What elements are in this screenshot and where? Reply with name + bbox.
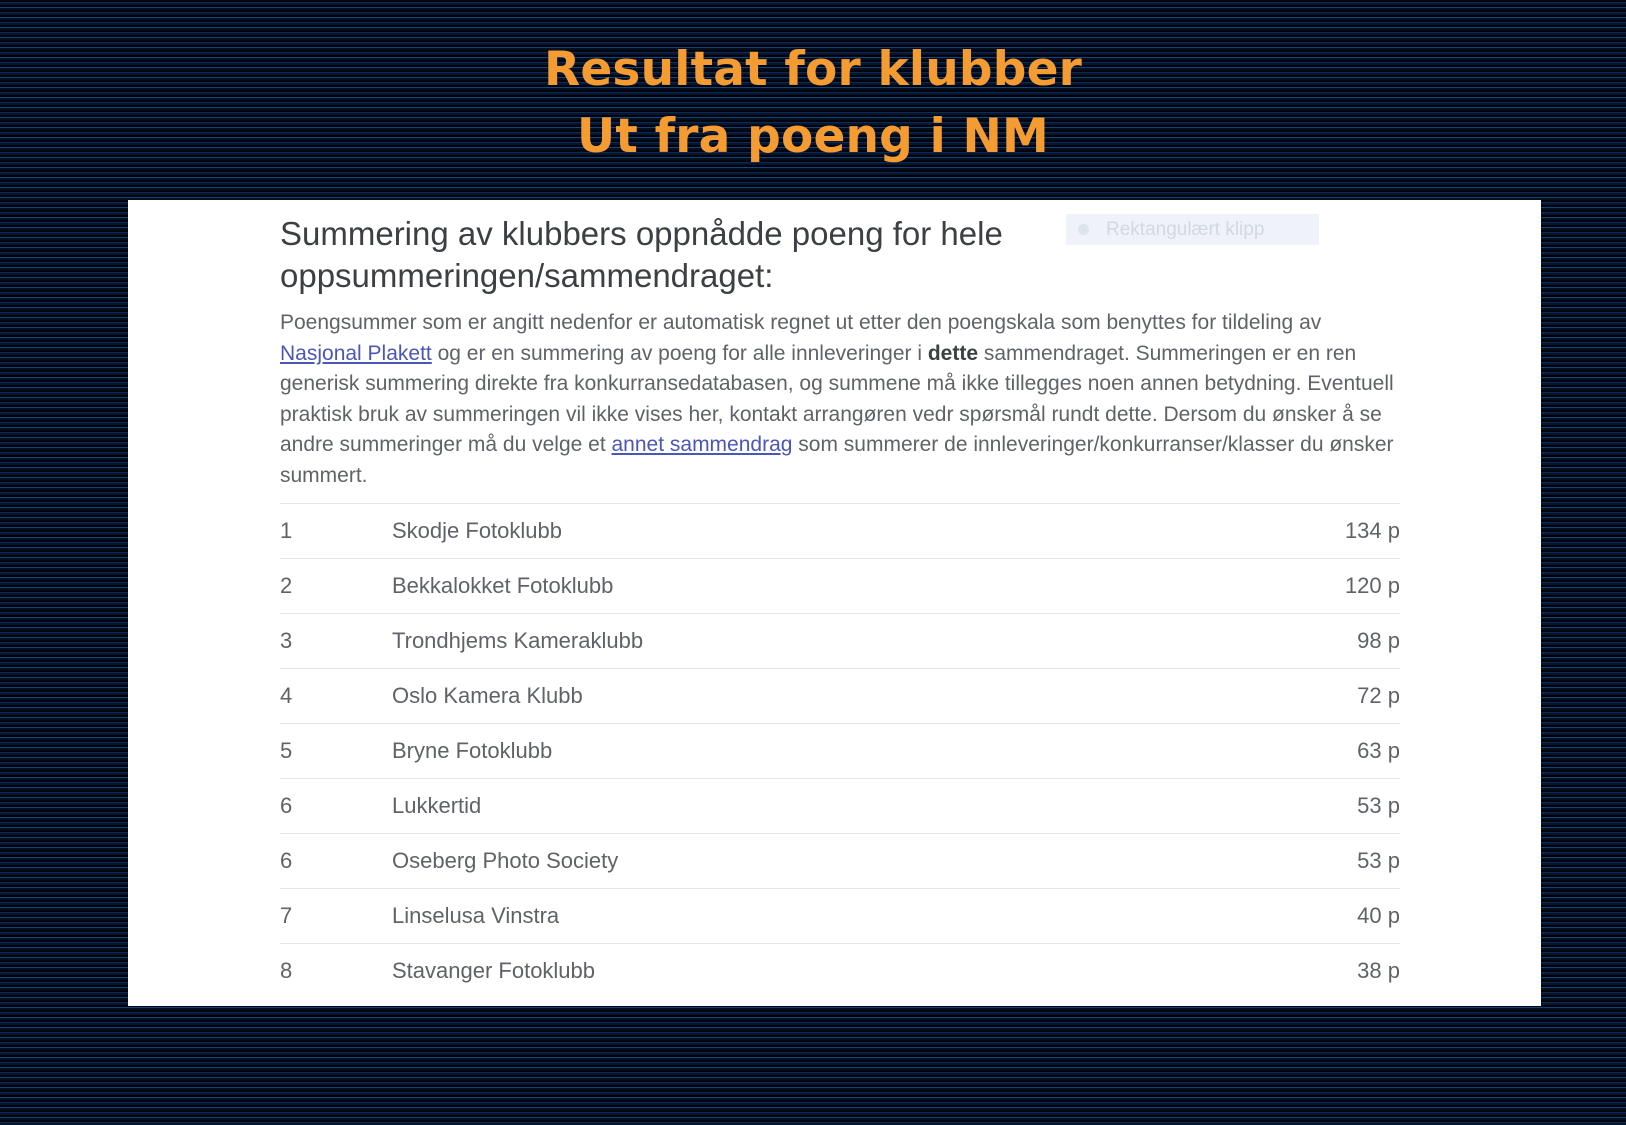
row-club: Bryne Fotoklubb	[392, 724, 1212, 779]
table-row[interactable]: 4Oslo Kamera Klubb72 p	[280, 669, 1400, 724]
row-points: 134 p	[1212, 504, 1400, 559]
paragraph-text-2: og er en summering av poeng for alle inn…	[432, 342, 928, 365]
table-row[interactable]: 1Skodje Fotoklubb134 p	[280, 504, 1400, 559]
row-rank: 7	[280, 889, 392, 944]
row-rank: 5	[280, 724, 392, 779]
row-club: Trondhjems Kameraklubb	[392, 614, 1212, 669]
row-rank: 3	[280, 614, 392, 669]
row-club: Oslo Kamera Klubb	[392, 669, 1212, 724]
row-points: 38 p	[1212, 944, 1400, 999]
title-line-2: Ut fra poeng i NM	[0, 103, 1626, 170]
row-rank: 4	[280, 669, 392, 724]
row-rank: 6	[280, 834, 392, 889]
paragraph-text-1: Poengsummer som er angitt nedenfor er au…	[280, 311, 1321, 334]
link-annet-sammendrag[interactable]: annet sammendrag	[612, 433, 793, 456]
table-row[interactable]: 2Bekkalokket Fotoklubb120 p	[280, 559, 1400, 614]
row-rank: 6	[280, 779, 392, 834]
slide-background: Resultat for klubber Ut fra poeng i NM R…	[0, 0, 1626, 1125]
row-points: 53 p	[1212, 779, 1400, 834]
table-row[interactable]: 8Stavanger Fotoklubb38 p	[280, 944, 1400, 999]
row-rank: 8	[280, 944, 392, 999]
results-table-body: 1Skodje Fotoklubb134 p2Bekkalokket Fotok…	[280, 504, 1400, 999]
row-club: Stavanger Fotoklubb	[392, 944, 1212, 999]
row-club: Skodje Fotoklubb	[392, 504, 1212, 559]
row-points: 72 p	[1212, 669, 1400, 724]
link-nasjonal-plakett[interactable]: Nasjonal Plakett	[280, 342, 432, 365]
row-club: Bekkalokket Fotoklubb	[392, 559, 1212, 614]
document-heading: Summering av klubbers oppnådde poeng for…	[280, 213, 1280, 297]
row-club: Linselusa Vinstra	[392, 889, 1212, 944]
row-points: 120 p	[1212, 559, 1400, 614]
row-points: 53 p	[1212, 834, 1400, 889]
row-rank: 1	[280, 504, 392, 559]
results-table: 1Skodje Fotoklubb134 p2Bekkalokket Fotok…	[280, 503, 1400, 999]
row-rank: 2	[280, 559, 392, 614]
table-row[interactable]: 3Trondhjems Kameraklubb98 p	[280, 614, 1400, 669]
row-points: 98 p	[1212, 614, 1400, 669]
table-row[interactable]: 7Linselusa Vinstra40 p	[280, 889, 1400, 944]
row-points: 63 p	[1212, 724, 1400, 779]
document-screenshot-panel: Rektangulært klipp Summering av klubbers…	[128, 200, 1541, 1006]
row-points: 40 p	[1212, 889, 1400, 944]
paragraph-emphasis-dette: dette	[928, 342, 978, 365]
row-club: Lukkertid	[392, 779, 1212, 834]
title-line-1: Resultat for klubber	[0, 36, 1626, 103]
table-row[interactable]: 6Oseberg Photo Society53 p	[280, 834, 1400, 889]
table-row[interactable]: 6Lukkertid53 p	[280, 779, 1400, 834]
slide-title: Resultat for klubber Ut fra poeng i NM	[0, 36, 1626, 170]
document-paragraph: Poengsummer som er angitt nedenfor er au…	[280, 308, 1400, 491]
table-row[interactable]: 5Bryne Fotoklubb63 p	[280, 724, 1400, 779]
row-club: Oseberg Photo Society	[392, 834, 1212, 889]
